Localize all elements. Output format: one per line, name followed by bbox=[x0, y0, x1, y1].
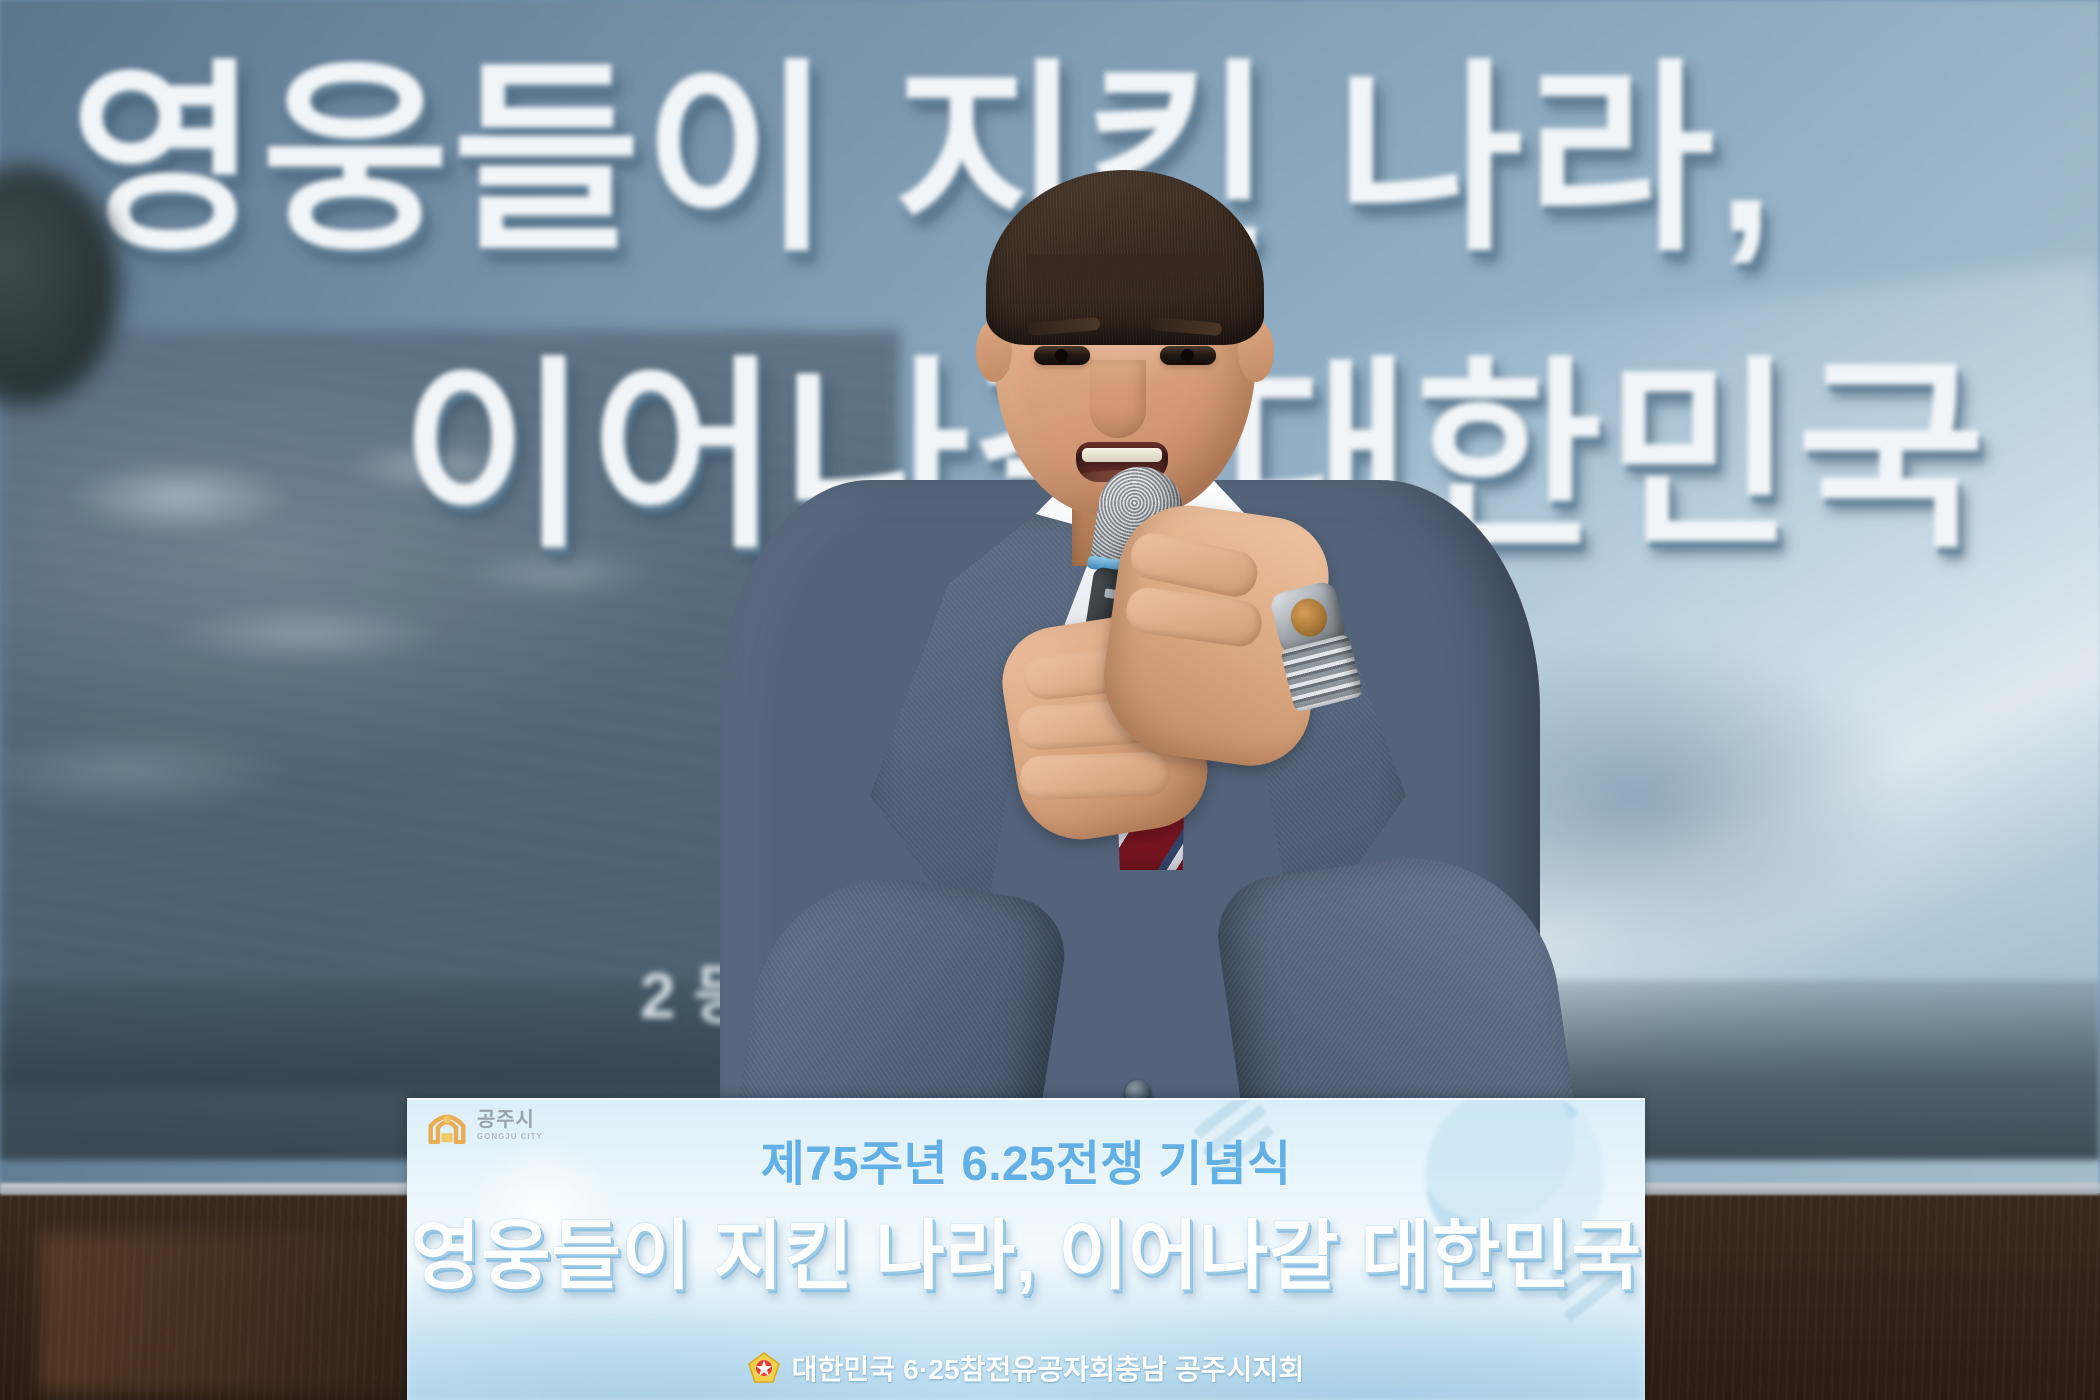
photo-stage: 영웅들이 지킨 나라, 이어나갈 대한민국 2 등소야) bbox=[0, 0, 2100, 1400]
podium-banner: 공주시 GONGJU CITY 제75주년 6.25전쟁 기념식 영웅들이 지킨… bbox=[407, 1098, 1645, 1400]
banner-main-slogan: 영웅들이 지킨 나라, 이어나갈 대한민국 bbox=[407, 1194, 1645, 1304]
veterans-association-star-emblem-icon bbox=[748, 1352, 780, 1384]
pupil-left bbox=[1055, 349, 1068, 362]
banner-organizer-row: 대한민국 6·25참전유공자회충남 공주시지회 bbox=[407, 1348, 1645, 1388]
nose bbox=[1090, 360, 1146, 438]
wristwatch-dial bbox=[1287, 595, 1331, 641]
speaker-hair bbox=[986, 170, 1264, 345]
banner-organizer-text: 대한민국 6·25참전유공자회충남 공주시지회 bbox=[792, 1348, 1305, 1388]
eye-right bbox=[1160, 346, 1216, 365]
teeth bbox=[1082, 448, 1162, 462]
finger bbox=[1019, 751, 1170, 800]
banner-event-title: 제75주년 6.25전쟁 기념식 bbox=[407, 1124, 1645, 1194]
eye-left bbox=[1034, 346, 1090, 365]
speaker-figure: 시 장 최원철 bbox=[680, 150, 1580, 1250]
pupil-right bbox=[1181, 349, 1194, 362]
